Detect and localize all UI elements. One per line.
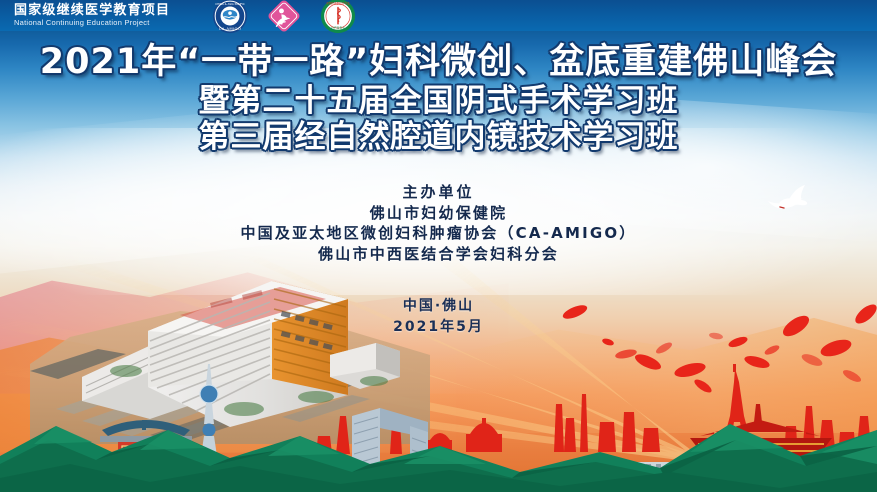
maternal-child-health-logo — [266, 0, 302, 34]
brand-title-en: National Continuing Education Project — [14, 19, 170, 27]
medical-association-seal-logo: 中国中西医结合学会 妇产科专业 — [320, 0, 356, 34]
title-line-1: 2021年“一带一路”妇科微创、盆底重建佛山峰会 — [0, 44, 877, 81]
conference-poster: 国家级继续医学教育项目 National Continuing Educatio… — [0, 0, 877, 492]
venue-place: 中国·佛山 — [0, 296, 877, 317]
ca-amigo-seal-logo: CHINA & ASIA PACIFIC CA-AMIGO — [212, 0, 248, 34]
landmarks-and-mountains — [0, 360, 877, 492]
brand-block: 国家级继续医学教育项目 National Continuing Educatio… — [14, 4, 170, 27]
venue-date: 2021年5月 — [0, 317, 877, 338]
logo-row: CHINA & ASIA PACIFIC CA-AMIGO — [212, 0, 356, 34]
organizer-line-3: 佛山市中西医结合学会妇科分会 — [0, 244, 877, 265]
svg-text:中国中西医结合学会: 中国中西医结合学会 — [326, 1, 350, 5]
svg-text:CHINA & ASIA PACIFIC: CHINA & ASIA PACIFIC — [215, 1, 245, 5]
topbar: 国家级继续医学教育项目 National Continuing Educatio… — [0, 0, 877, 31]
poster-title: 2021年“一带一路”妇科微创、盆底重建佛山峰会 暨第二十五届全国阴式手术学习班… — [0, 44, 877, 154]
organizer-line-1: 佛山市妇幼保健院 — [0, 203, 877, 224]
organizer-line-2: 中国及亚太地区微创妇科肿瘤协会（CA-AMIGO） — [0, 223, 877, 244]
organizers-block: 主办单位 佛山市妇幼保健院 中国及亚太地区微创妇科肿瘤协会（CA-AMIGO） … — [0, 182, 877, 265]
organizers-heading: 主办单位 — [0, 182, 877, 203]
title-line-3: 第三届经自然腔道内镜技术学习班 — [0, 121, 877, 154]
svg-text:CA-AMIGO: CA-AMIGO — [219, 25, 242, 30]
brand-title-cn: 国家级继续医学教育项目 — [14, 4, 170, 18]
title-line-2: 暨第二十五届全国阴式手术学习班 — [0, 85, 877, 118]
venue-block: 中国·佛山 2021年5月 — [0, 296, 877, 338]
svg-text:妇产科专业: 妇产科专业 — [331, 26, 345, 30]
